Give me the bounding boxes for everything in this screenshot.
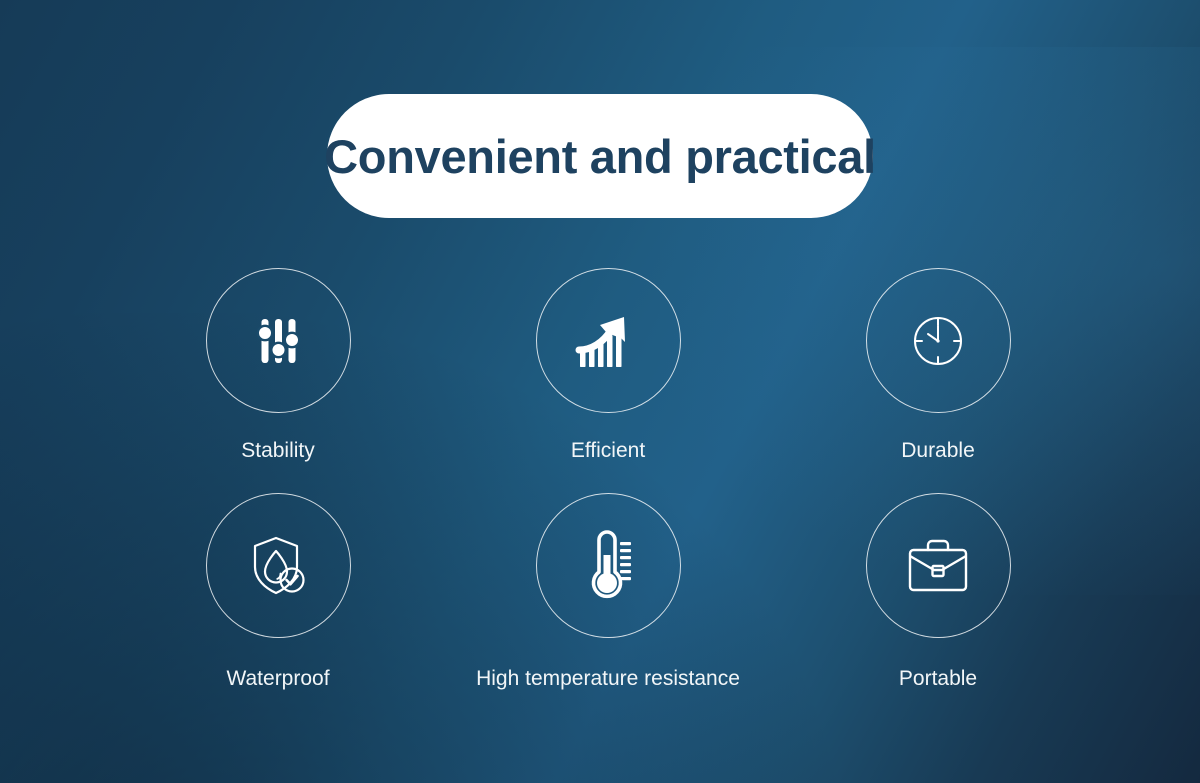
icon-circle-efficient xyxy=(536,268,681,413)
icon-circle-high-temperature xyxy=(536,493,681,638)
icon-circle-stability xyxy=(206,268,351,413)
feature-item-portable[interactable]: Portable xyxy=(773,493,1103,691)
feature-label: Waterproof xyxy=(226,666,329,691)
feature-label: Efficient xyxy=(571,438,645,463)
feature-row-top: Stability xyxy=(0,268,1200,463)
feature-row-bottom: Waterproof xyxy=(0,493,1200,691)
feature-poster: Convenient and practical xyxy=(0,0,1200,783)
growth-chart-arrow-icon xyxy=(575,310,641,372)
icon-circle-portable xyxy=(866,493,1011,638)
feature-item-efficient[interactable]: Efficient xyxy=(443,268,773,463)
feature-label: High temperature resistance xyxy=(476,666,740,691)
clock-icon xyxy=(907,310,969,372)
feature-item-high-temperature-resistance[interactable]: High temperature resistance xyxy=(443,493,773,691)
feature-label: Durable xyxy=(901,438,975,463)
feature-grid: Stability xyxy=(0,268,1200,691)
icon-circle-waterproof xyxy=(206,493,351,638)
briefcase-icon xyxy=(903,535,973,597)
feature-item-durable[interactable]: Durable xyxy=(773,268,1103,463)
icon-circle-durable xyxy=(866,268,1011,413)
feature-item-waterproof[interactable]: Waterproof xyxy=(113,493,443,691)
thermometer-icon xyxy=(577,530,639,602)
feature-item-stability[interactable]: Stability xyxy=(113,268,443,463)
page-title: Convenient and practical xyxy=(324,133,876,180)
shield-water-drop-check-icon xyxy=(245,533,311,599)
title-pill: Convenient and practical xyxy=(327,94,873,218)
sliders-icon xyxy=(247,310,309,372)
feature-label: Portable xyxy=(899,666,977,691)
feature-label: Stability xyxy=(241,438,315,463)
